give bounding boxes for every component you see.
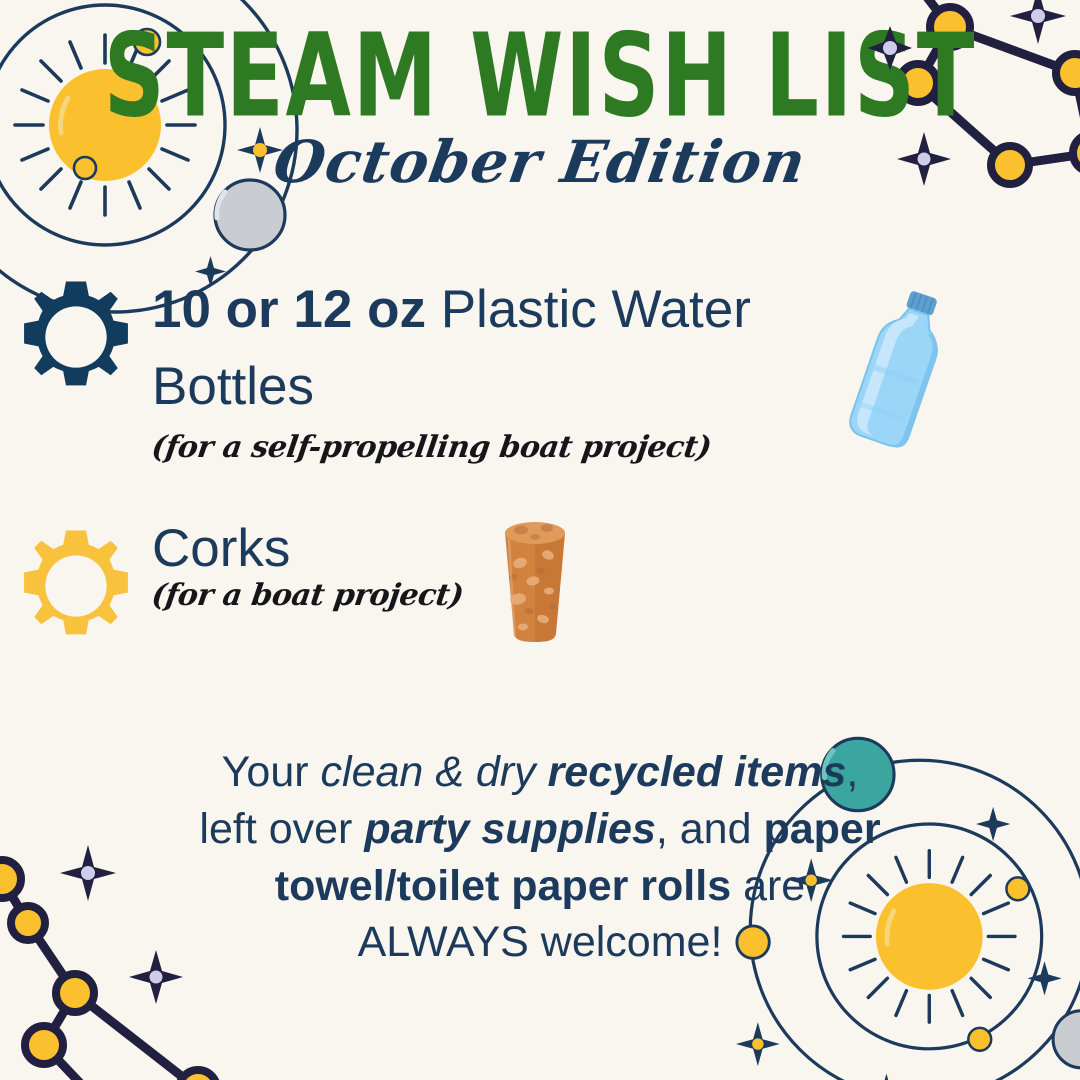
footer-text-bolditalic-2: party supplies	[364, 805, 656, 853]
list-item-note: (for a self-propelling boat project)	[150, 430, 714, 465]
gear-icon-wrapper	[0, 272, 152, 396]
footer-message: Your clean & dry recycled items, left ov…	[190, 744, 890, 971]
cork-illustration	[485, 515, 585, 645]
poster-header: STEAM WISH LIST October Edition	[0, 18, 1080, 196]
water-bottle-illustration	[812, 282, 982, 462]
list-item-title-bold: 10 or 12 oz	[152, 280, 426, 339]
corks-row: Corks (for a boat project)	[152, 521, 1060, 645]
list-item: Corks (for a boat project)	[0, 521, 1080, 645]
list-item-title: Corks	[152, 521, 463, 577]
gear-icon	[17, 278, 135, 396]
list-item-body: Corks (for a boat project)	[152, 521, 1080, 645]
footer-text-1: Your	[222, 748, 321, 796]
gear-icon-wrapper	[0, 521, 152, 645]
footer-text-italic-1: clean & dry	[321, 748, 536, 796]
four-point-star-icon	[0, 845, 183, 1004]
footer-text-bolditalic-1: recycled items	[548, 748, 847, 796]
wish-list: 10 or 12 oz Plastic Water Bottles (for a…	[0, 272, 1080, 645]
list-item: 10 or 12 oz Plastic Water Bottles (for a…	[0, 272, 1080, 465]
list-item-title-rest: Corks	[152, 519, 290, 578]
page-subtitle: October Edition	[0, 128, 1080, 196]
poster-canvas: STEAM WISH LIST October Edition 10 or 12…	[0, 0, 1080, 1080]
list-item-title: 10 or 12 oz Plastic Water Bottles	[152, 272, 812, 426]
list-item-note: (for a boat project)	[150, 578, 466, 613]
four-point-star-icon	[862, 20, 918, 76]
footer-text-space-1	[536, 748, 548, 796]
footer-text-3: , and	[656, 805, 764, 853]
gear-icon	[17, 527, 135, 645]
